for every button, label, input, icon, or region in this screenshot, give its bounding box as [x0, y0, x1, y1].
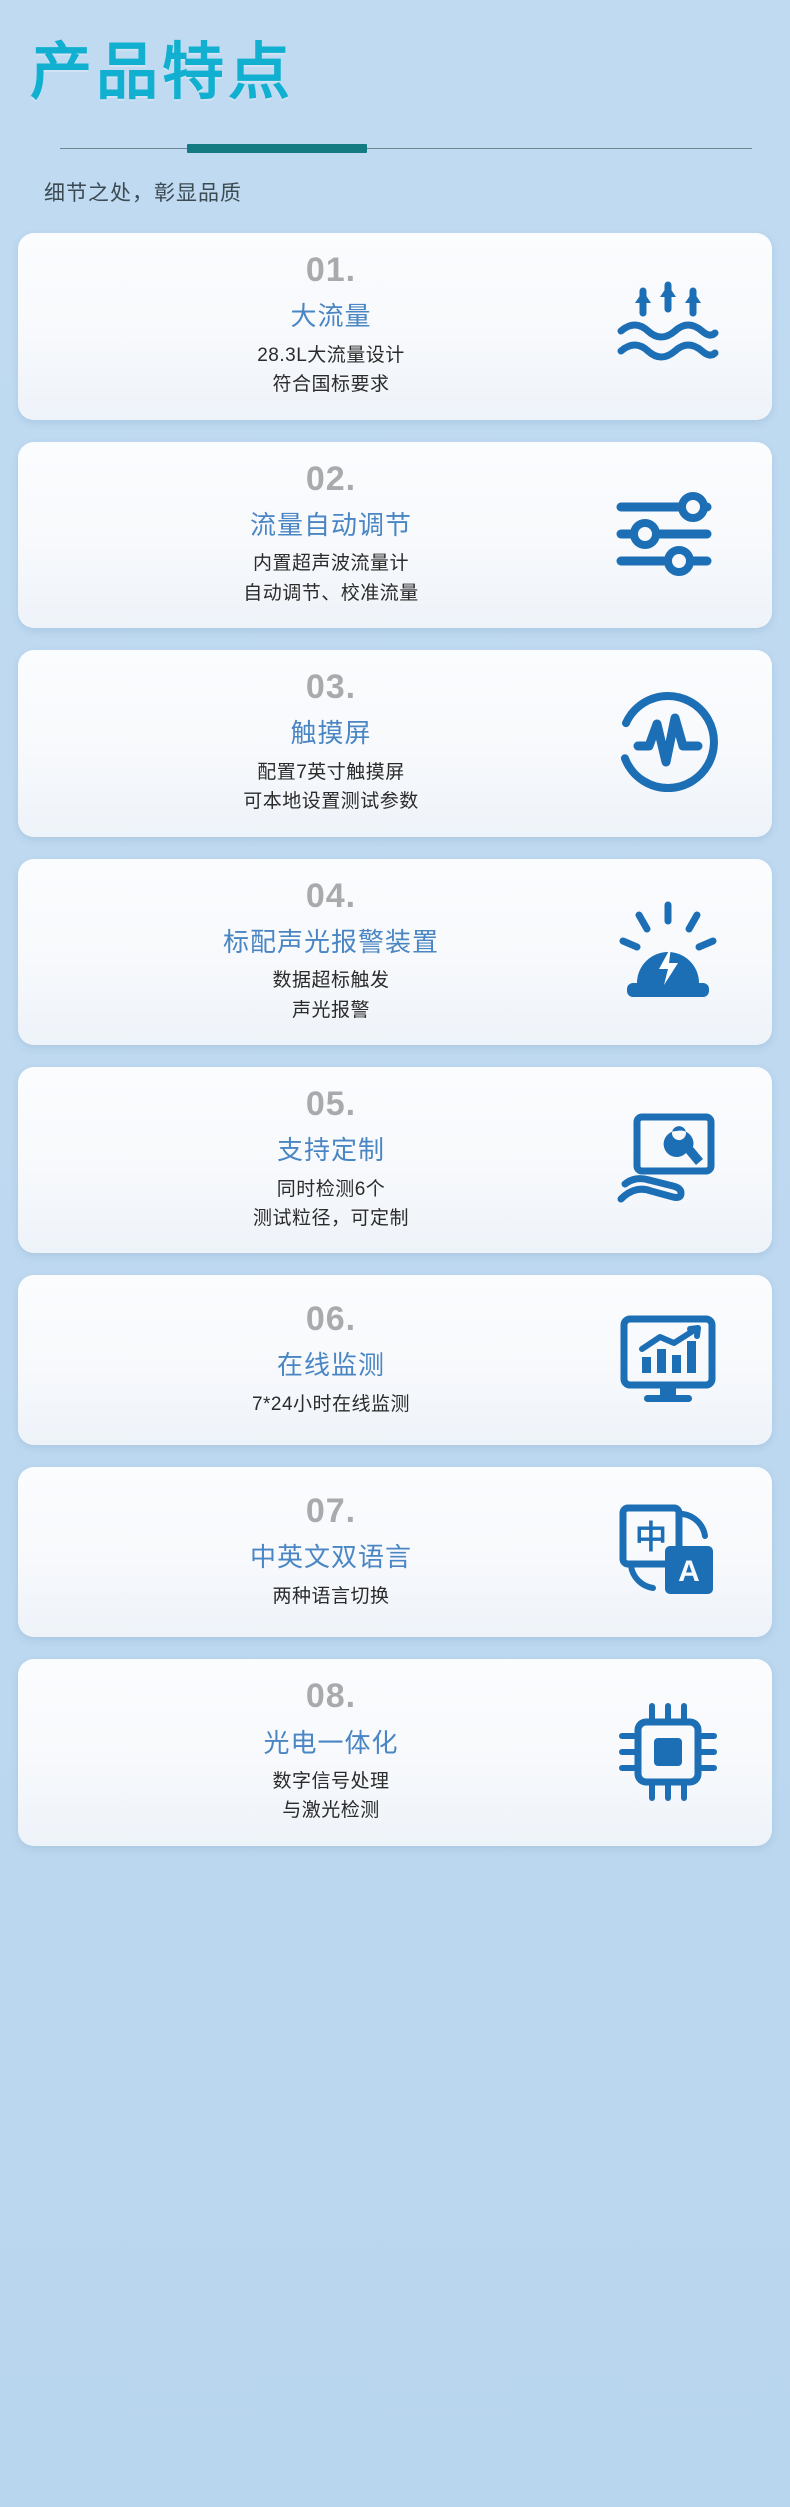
divider-accent-bar	[187, 144, 367, 153]
feature-title: 触摸屏	[58, 717, 604, 750]
feature-description-line: 与激光检测	[58, 1796, 604, 1825]
feature-card-text: 03. 触摸屏 配置7英寸触摸屏 可本地设置测试参数	[52, 668, 604, 816]
feature-description: 数据超标触发 声光报警	[58, 966, 604, 1025]
monitor-chart-icon	[604, 1304, 732, 1414]
feature-card-list: 01. 大流量 28.3L大流量设计 符合国标要求	[0, 233, 790, 1846]
feature-description: 7*24小时在线监测	[58, 1390, 604, 1419]
feature-number: 05.	[58, 1085, 604, 1124]
page-title: 产品特点	[30, 40, 760, 105]
feature-description-line: 测试粒径，可定制	[58, 1204, 604, 1233]
feature-card: 04. 标配声光报警装置 数据超标触发 声光报警	[18, 859, 772, 1045]
divider-line	[60, 148, 752, 149]
feature-number: 01.	[58, 251, 604, 290]
feature-description: 28.3L大流量设计 符合国标要求	[58, 341, 604, 400]
feature-description-line: 配置7英寸触摸屏	[58, 758, 604, 787]
feature-description-line: 自动调节、校准流量	[58, 579, 604, 608]
feature-number: 04.	[58, 877, 604, 916]
feature-card-text: 01. 大流量 28.3L大流量设计 符合国标要求	[52, 251, 604, 399]
feature-card-text: 08. 光电一体化 数字信号处理 与激光检测	[52, 1677, 604, 1825]
feature-description: 数字信号处理 与激光检测	[58, 1767, 604, 1826]
feature-description: 同时检测6个 测试粒径，可定制	[58, 1175, 604, 1234]
feature-card: 03. 触摸屏 配置7英寸触摸屏 可本地设置测试参数	[18, 650, 772, 836]
product-features-page: 产品特点 细节之处，彰显品质 01. 大流量 28.3L大流量设计 符合国标要求	[0, 0, 790, 2507]
feature-description-line: 数据超标触发	[58, 966, 604, 995]
feature-card-text: 02. 流量自动调节 内置超声波流量计 自动调节、校准流量	[52, 460, 604, 608]
feature-number: 03.	[58, 668, 604, 707]
feature-description-line: 7*24小时在线监测	[58, 1390, 604, 1419]
feature-title: 支持定制	[58, 1134, 604, 1167]
title-divider	[32, 143, 752, 155]
feature-description: 内置超声波流量计 自动调节、校准流量	[58, 549, 604, 608]
custom-wrench-hand-icon	[604, 1104, 732, 1214]
feature-title: 流量自动调节	[58, 509, 604, 542]
feature-description-line: 28.3L大流量设计	[58, 341, 604, 370]
feature-title: 大流量	[58, 300, 604, 333]
feature-description-line: 内置超声波流量计	[58, 549, 604, 578]
feature-description-line: 两种语言切换	[58, 1582, 604, 1611]
feature-title: 中英文双语言	[58, 1541, 604, 1574]
feature-card: 05. 支持定制 同时检测6个 测试粒径，可定制	[18, 1067, 772, 1253]
water-wave-flow-icon	[604, 270, 732, 380]
chip-processor-icon	[604, 1697, 732, 1807]
sliders-adjust-icon	[604, 479, 732, 589]
feature-description-line: 符合国标要求	[58, 370, 604, 399]
feature-description-line: 可本地设置测试参数	[58, 787, 604, 816]
page-subtitle: 细节之处，彰显品质	[44, 177, 760, 207]
feature-description-line: 数字信号处理	[58, 1767, 604, 1796]
alarm-siren-icon	[604, 896, 732, 1006]
feature-card-text: 07. 中英文双语言 两种语言切换	[52, 1492, 604, 1611]
svg-text:中: 中	[635, 1519, 667, 1555]
feature-title: 标配声光报警装置	[58, 926, 604, 959]
feature-card: 08. 光电一体化 数字信号处理 与激光检测	[18, 1659, 772, 1845]
feature-description: 两种语言切换	[58, 1582, 604, 1611]
feature-description: 配置7英寸触摸屏 可本地设置测试参数	[58, 758, 604, 817]
translate-language-icon: 中 A	[604, 1496, 732, 1606]
waveform-circle-icon	[604, 687, 732, 797]
feature-card: 01. 大流量 28.3L大流量设计 符合国标要求	[18, 233, 772, 419]
feature-description-line: 同时检测6个	[58, 1175, 604, 1204]
feature-card: 07. 中英文双语言 两种语言切换 中 A	[18, 1467, 772, 1637]
feature-card: 02. 流量自动调节 内置超声波流量计 自动调节、校准流量	[18, 442, 772, 628]
svg-text:A: A	[678, 1555, 700, 1588]
feature-description-line: 声光报警	[58, 996, 604, 1025]
feature-title: 光电一体化	[58, 1727, 604, 1760]
feature-number: 06.	[58, 1300, 604, 1339]
feature-number: 08.	[58, 1677, 604, 1716]
feature-card-text: 04. 标配声光报警装置 数据超标触发 声光报警	[52, 877, 604, 1025]
feature-card-text: 05. 支持定制 同时检测6个 测试粒径，可定制	[52, 1085, 604, 1233]
feature-title: 在线监测	[58, 1349, 604, 1382]
feature-number: 07.	[58, 1492, 604, 1531]
feature-card-text: 06. 在线监测 7*24小时在线监测	[52, 1300, 604, 1419]
page-header: 产品特点 细节之处，彰显品质	[0, 0, 790, 207]
feature-card: 06. 在线监测 7*24小时在线监测	[18, 1275, 772, 1445]
feature-number: 02.	[58, 460, 604, 499]
